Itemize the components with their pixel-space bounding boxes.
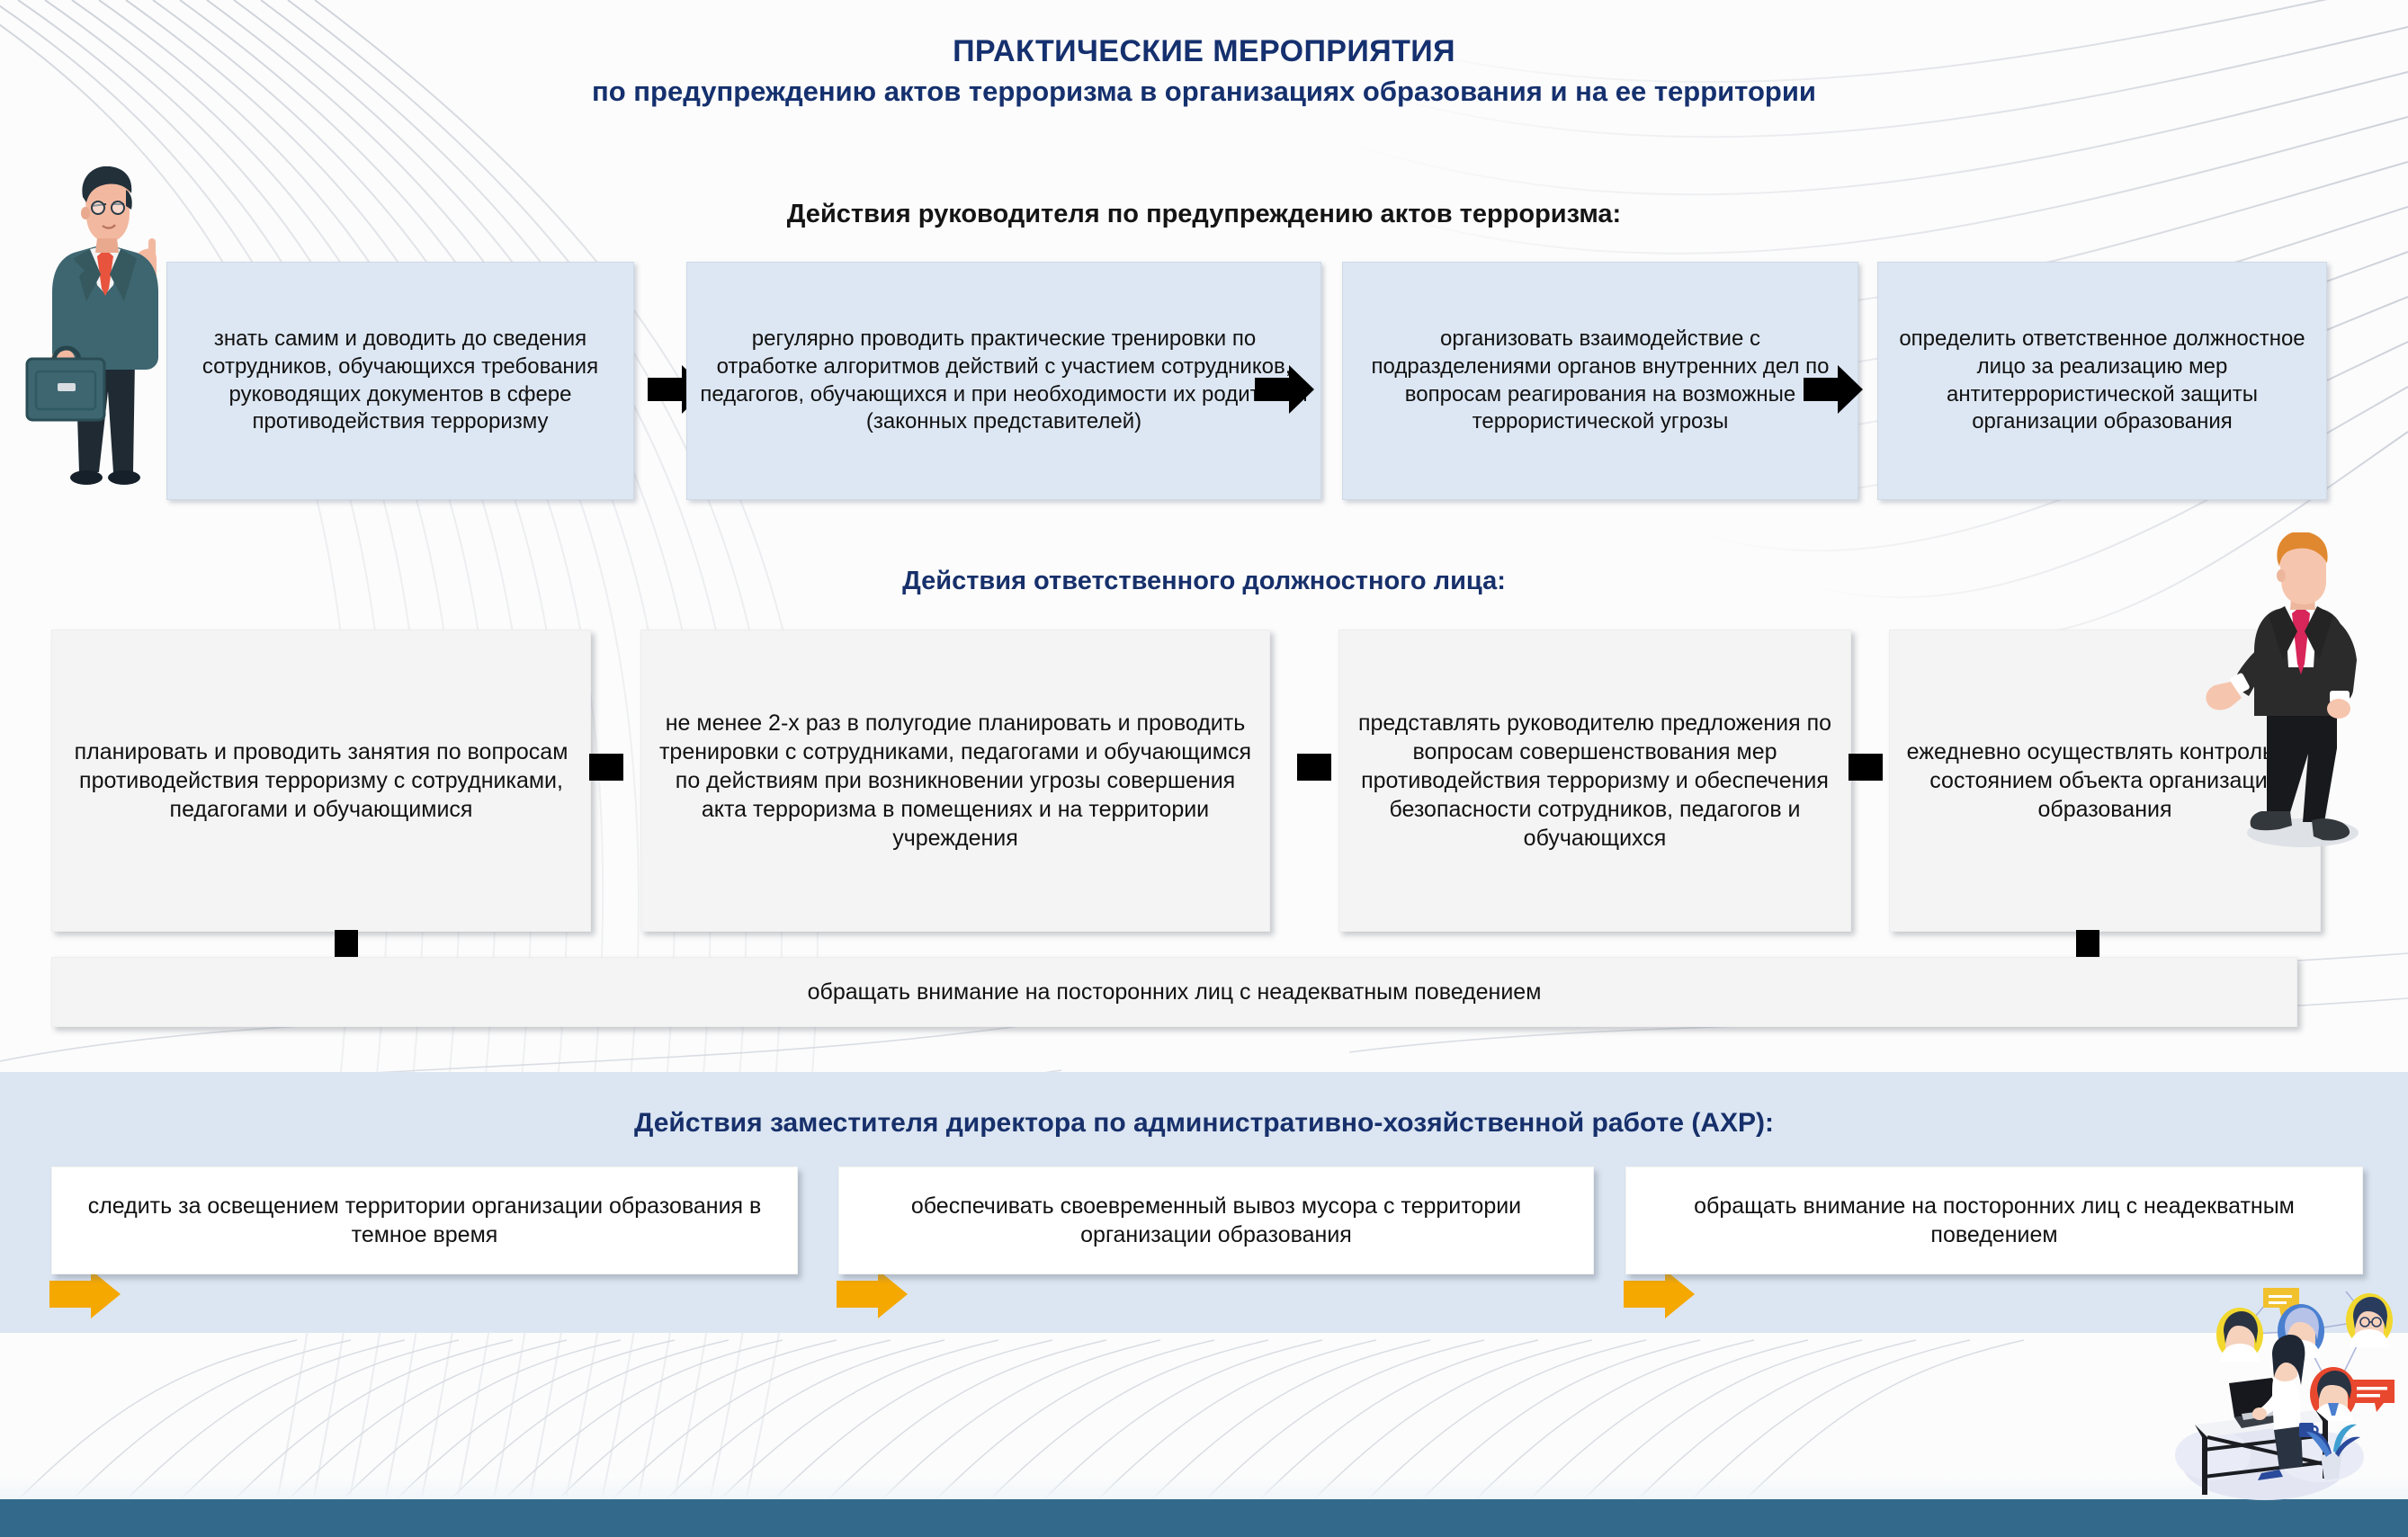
box-ahr-2-text: обеспечивать своевременный вывоз мусора … xyxy=(839,1192,1593,1249)
box-ahr-3-text: обращать внимание на посторонних лиц с н… xyxy=(1626,1192,2362,1249)
box-ahr-1-text: следить за освещением территории организ… xyxy=(52,1192,797,1249)
box-head-4-text: определить ответственное должностное лиц… xyxy=(1878,326,2326,436)
box-official-1: планировать и проводить занятия по вопро… xyxy=(51,630,591,932)
box-head-2: регулярно проводить практические трениро… xyxy=(686,262,1321,500)
box-ahr-2: обеспечивать своевременный вывоз мусора … xyxy=(838,1166,1594,1274)
section-heading-responsible-official: Действия ответственного должностного лиц… xyxy=(0,567,2408,596)
box-ahr-3: обращать внимание на посторонних лиц с н… xyxy=(1625,1166,2363,1274)
businessman-with-briefcase-illustration xyxy=(20,166,191,504)
section-heading-deputy-director-ahr: Действия заместителя директора по админи… xyxy=(0,1108,2408,1139)
box-head-2-text: регулярно проводить практические трениро… xyxy=(687,326,1320,436)
box-head-3: организовать взаимодействие с подразделе… xyxy=(1342,262,1858,500)
box-head-4: определить ответственное должностное лиц… xyxy=(1877,262,2327,500)
box-head-1: знать самим и доводить до сведения сотру… xyxy=(166,262,634,500)
wide-bar-attention-text: обращать внимание на посторонних лиц с н… xyxy=(808,979,1542,1005)
box-official-1-text: планировать и проводить занятия по вопро… xyxy=(52,737,590,824)
connector-square-2 xyxy=(1297,754,1331,781)
connector-square-3 xyxy=(1849,754,1883,781)
box-official-3: представлять руководителю предложения по… xyxy=(1338,630,1851,932)
box-official-2: не менее 2-х раз в полугодие планировать… xyxy=(640,630,1270,932)
poster-root: ПРАКТИЧЕСКИЕ МЕРОПРИЯТИЯ по предупрежден… xyxy=(0,0,2408,1537)
page-title: ПРАКТИЧЕСКИЕ МЕРОПРИЯТИЯ xyxy=(0,34,2408,69)
box-official-2-text: не менее 2-х раз в полугодие планировать… xyxy=(641,709,1269,853)
network-team-illustration xyxy=(2157,1288,2408,1504)
box-head-1-text: знать самим и доводить до сведения сотру… xyxy=(167,326,633,436)
connector-square-1 xyxy=(589,754,623,781)
page-subtitle: по предупреждению актов терроризма в орг… xyxy=(0,76,2408,108)
businessman-pointing-illustration xyxy=(2202,532,2395,867)
box-official-3-text: представлять руководителю предложения по… xyxy=(1339,709,1850,853)
box-head-3-text: организовать взаимодействие с подразделе… xyxy=(1343,326,1857,436)
wide-bar-attention: обращать внимание на посторонних лиц с н… xyxy=(51,957,2297,1027)
section-heading-head-of-organization: Действия руководителя по предупреждению … xyxy=(0,200,2408,229)
box-ahr-1: следить за освещением территории организ… xyxy=(51,1166,798,1274)
